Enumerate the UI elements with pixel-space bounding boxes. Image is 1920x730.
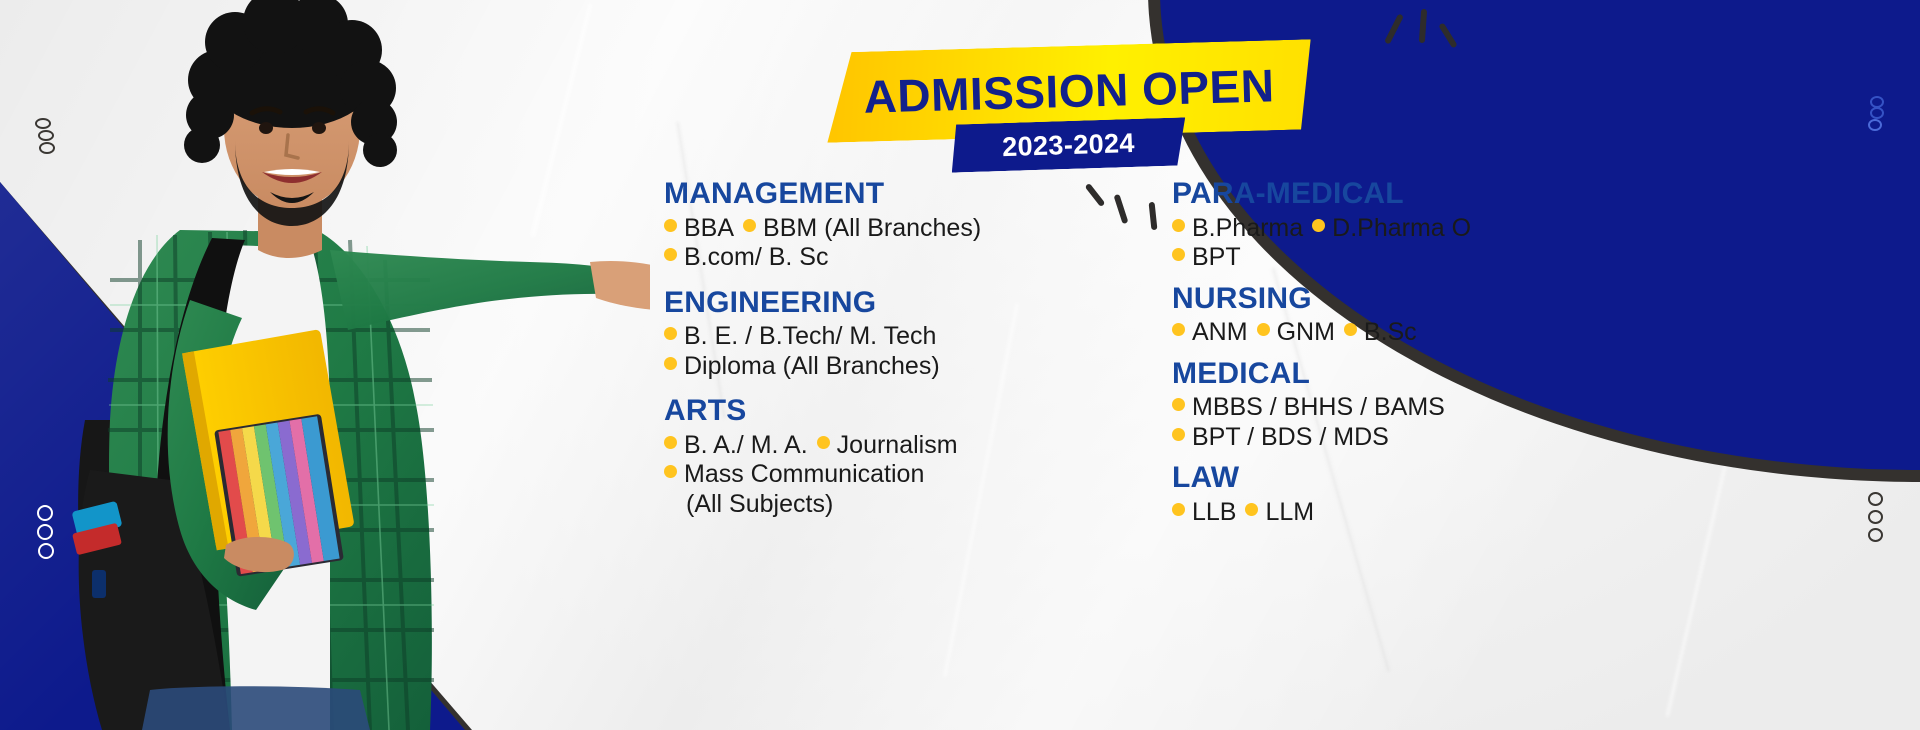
bullet-dot-icon [1257, 323, 1270, 336]
course-line: Diploma (All Branches) [664, 352, 1084, 382]
course-label: B.com/ B. Sc [684, 243, 828, 273]
bullet-dot-icon [1172, 219, 1185, 232]
course-label: D.Pharma O [1332, 214, 1471, 244]
course-line: Mass Communication [664, 460, 1084, 490]
session-text: 2023-2024 [950, 117, 1186, 172]
course-label: BBM (All Branches) [763, 214, 981, 244]
course-line: B.com/ B. Sc [664, 243, 1084, 273]
category-items: LLBLLM [1172, 498, 1572, 528]
course-label: LLM [1265, 498, 1314, 528]
course-label: Mass Communication [684, 460, 924, 490]
category-title: MANAGEMENT [664, 176, 1084, 213]
course-column-right: PARA-MEDICALB.PharmaD.Pharma OBPTNURSING… [1172, 176, 1572, 529]
course-category: LAWLLBLLM [1172, 460, 1572, 527]
course-label: GNM [1277, 318, 1335, 348]
circle-trio-icon [1868, 510, 1883, 524]
category-title: LAW [1172, 460, 1572, 497]
bullet-dot-icon [1312, 219, 1325, 232]
category-title: PARA-MEDICAL [1172, 176, 1572, 213]
course-label: BPT / BDS / MDS [1192, 423, 1389, 453]
bullet-dot-icon [664, 465, 677, 478]
admission-banner: ADMISSION OPEN 2023-2024 MANAGEMENTBBABB… [0, 0, 1920, 730]
bullet-dot-icon [743, 219, 756, 232]
category-items: B. A./ M. A.JournalismMass Communication… [664, 431, 1084, 520]
course-line: BPT / BDS / MDS [1172, 423, 1572, 453]
course-line: B. E. / B.Tech/ M. Tech [664, 322, 1084, 352]
course-line: BBABBM (All Branches) [664, 214, 1084, 244]
bullet-dot-icon [817, 436, 830, 449]
course-label: B.Sc [1364, 318, 1417, 348]
course-label: LLB [1192, 498, 1236, 528]
course-label: Journalism [837, 431, 958, 461]
bullet-dot-icon [664, 327, 677, 340]
course-label: B.Pharma [1192, 214, 1303, 244]
category-items: BBABBM (All Branches)B.com/ B. Sc [664, 214, 1084, 273]
course-line: (All Subjects) [664, 490, 1084, 520]
category-title: ENGINEERING [664, 285, 1084, 322]
course-label: Diploma (All Branches) [684, 352, 940, 382]
course-label: B. A./ M. A. [684, 431, 808, 461]
category-title: ARTS [664, 393, 1084, 430]
bullet-dot-icon [664, 248, 677, 261]
bullet-dot-icon [1344, 323, 1357, 336]
circle-trio-icon [1868, 119, 1882, 131]
course-category: ENGINEERINGB. E. / B.Tech/ M. TechDiplom… [664, 285, 1084, 382]
course-category: MEDICALMBBS / BHHS / BAMSBPT / BDS / MDS [1172, 356, 1572, 453]
category-items: ANMGNMB.Sc [1172, 318, 1572, 348]
course-category: NURSINGANMGNMB.Sc [1172, 281, 1572, 348]
course-line: BPT [1172, 243, 1572, 273]
course-line: ANMGNMB.Sc [1172, 318, 1572, 348]
student-with-books-photo [30, 0, 650, 730]
bullet-dot-icon [1172, 248, 1185, 261]
bullet-dot-icon [1172, 323, 1185, 336]
course-line: B.PharmaD.Pharma O [1172, 214, 1572, 244]
course-label: (All Subjects) [686, 490, 833, 520]
course-column-left: MANAGEMENTBBABBM (All Branches)B.com/ B.… [664, 176, 1084, 521]
category-items: MBBS / BHHS / BAMSBPT / BDS / MDS [1172, 393, 1572, 452]
circle-trio-icon [1870, 107, 1884, 119]
bullet-dot-icon [1245, 503, 1258, 516]
bullet-dot-icon [664, 436, 677, 449]
course-category: ARTSB. A./ M. A.JournalismMass Communica… [664, 393, 1084, 519]
bullet-dot-icon [664, 219, 677, 232]
course-label: MBBS / BHHS / BAMS [1192, 393, 1445, 423]
category-items: B.PharmaD.Pharma OBPT [1172, 214, 1572, 273]
circle-trio-icon [1868, 528, 1883, 542]
bullet-dot-icon [1172, 398, 1185, 411]
course-line: B. A./ M. A.Journalism [664, 431, 1084, 461]
course-line: LLBLLM [1172, 498, 1572, 528]
course-label: B. E. / B.Tech/ M. Tech [684, 322, 936, 352]
category-title: MEDICAL [1172, 356, 1572, 393]
course-label: BBA [684, 214, 734, 244]
course-category: PARA-MEDICALB.PharmaD.Pharma OBPT [1172, 176, 1572, 273]
bullet-dot-icon [664, 357, 677, 370]
category-title: NURSING [1172, 281, 1572, 318]
course-category: MANAGEMENTBBABBM (All Branches)B.com/ B.… [664, 176, 1084, 273]
category-items: B. E. / B.Tech/ M. TechDiploma (All Bran… [664, 322, 1084, 381]
course-line: MBBS / BHHS / BAMS [1172, 393, 1572, 423]
bullet-dot-icon [1172, 428, 1185, 441]
circle-trio-icon [1868, 492, 1883, 506]
bullet-dot-icon [1172, 503, 1185, 516]
course-label: BPT [1192, 243, 1241, 273]
course-label: ANM [1192, 318, 1248, 348]
